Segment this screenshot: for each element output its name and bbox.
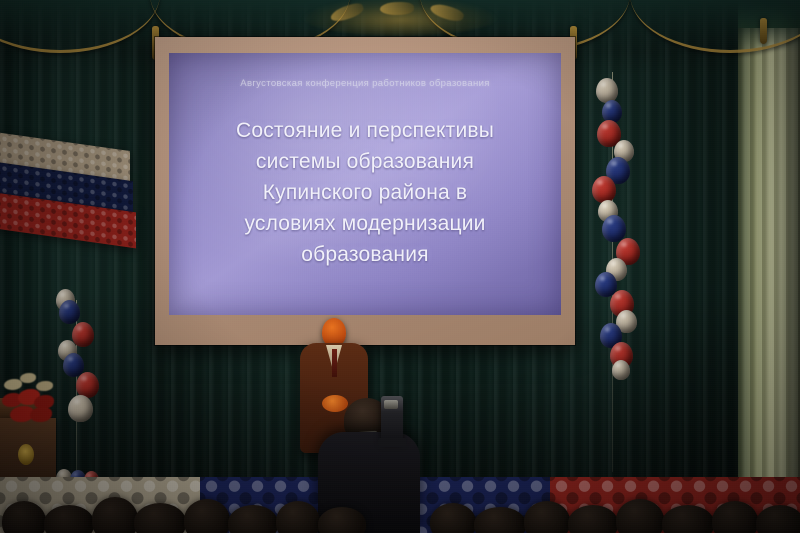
camcorder-icon (381, 396, 403, 442)
curtain-light-panel-right (738, 28, 800, 508)
slide-title-line-4: условиях модернизации (179, 208, 551, 239)
flower-petal-red (30, 407, 52, 422)
apron-blue-balloons (410, 477, 555, 533)
camcorder-lens-icon (384, 400, 398, 409)
balloon-red (592, 176, 616, 203)
cameraman-body (318, 432, 420, 533)
slide-title-line-5: образования (179, 239, 551, 270)
speaker-tie (332, 349, 337, 377)
slide-title-line-2: системы образования (179, 146, 551, 177)
flower-bouquet (0, 373, 68, 429)
speaker-hands (322, 395, 348, 412)
flower-petal-cream (20, 373, 36, 383)
vase-medallion-icon (18, 444, 34, 465)
slide-title-line-3: Купинского района в (179, 177, 551, 208)
slide-title-line-1: Состояние и перспективы (179, 115, 551, 146)
balloon-red (72, 322, 94, 347)
photo-scene: Августовская конференция работников обра… (0, 0, 800, 533)
projection-screen-frame: Августовская конференция работников обра… (155, 37, 575, 345)
camcorder-base (378, 438, 406, 447)
balloon-white (612, 360, 630, 380)
balloon-blue (602, 215, 626, 242)
balloon-white (596, 78, 618, 103)
gold-tassel-far-right (760, 18, 767, 44)
projection-screen-surface: Августовская конференция работников обра… (169, 53, 561, 315)
slide-title-block: Состояние и перспективы системы образова… (179, 115, 551, 270)
slide-header-text: Августовская конференция работников обра… (197, 77, 533, 90)
flower-petal-cream (4, 379, 22, 390)
flower-petal-cream (36, 381, 53, 391)
gold-leaf-icon-center (380, 2, 414, 15)
balloon-white (68, 395, 93, 422)
balloon-blue (59, 300, 80, 324)
apron-red-balloons (550, 477, 800, 533)
apron-white-balloons (0, 477, 200, 533)
